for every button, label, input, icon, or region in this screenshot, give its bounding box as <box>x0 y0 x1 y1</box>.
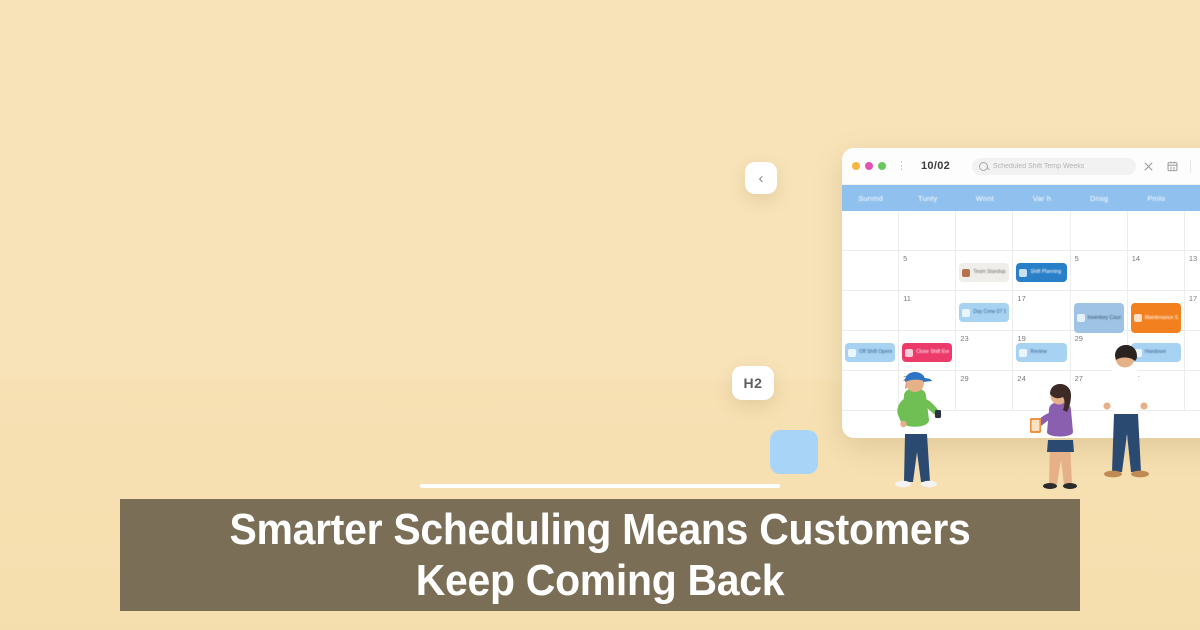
chevron-left-icon: ‹ <box>759 171 764 186</box>
social-card: ⋮ 10/02 Scheduled Shift Temp Weeks <box>0 0 1200 630</box>
window-close-dot[interactable] <box>852 162 860 170</box>
calendar-cell[interactable] <box>1185 331 1200 371</box>
event-icon <box>1134 314 1142 322</box>
calendar-toolbar: ⋮ 10/02 Scheduled Shift Temp Weeks <box>842 148 1200 185</box>
calendar-cell[interactable] <box>956 211 1013 251</box>
toolbar-divider <box>1190 160 1191 173</box>
event-icon <box>1077 314 1085 322</box>
back-button[interactable]: ‹ <box>745 162 777 194</box>
calendar-cell[interactable]: Inventory Count <box>1071 291 1128 331</box>
calendar-day-number: 11 <box>903 294 951 303</box>
event-icon <box>1019 269 1027 277</box>
calendar-cell[interactable]: 11 <box>899 291 956 331</box>
event-label: Day Crew 07 Shift <box>973 309 1006 315</box>
event-label: Off Shift Opener <box>859 349 892 355</box>
calendar-event-chip[interactable]: Day Crew 07 Shift <box>959 303 1009 322</box>
calendar-day-number: 14 <box>1132 254 1180 263</box>
event-label: Inventory Count <box>1088 315 1121 321</box>
calendar-cell[interactable]: Close Shift Evening <box>899 331 956 371</box>
calendar-day-number: 23 <box>960 334 1008 343</box>
person-green-shirt <box>878 368 952 500</box>
weekday-4: Dnsg <box>1071 185 1128 211</box>
event-icon <box>962 309 970 317</box>
calendar-cell[interactable] <box>842 251 899 291</box>
heading-level-chip[interactable]: H2 <box>732 366 774 400</box>
calendar-event-chip[interactable]: Review <box>1016 343 1066 362</box>
calendar-event-chip[interactable]: Team Standup Production <box>959 263 1009 282</box>
search-query-text: Scheduled Shift Temp Weeks <box>993 163 1084 170</box>
event-label: Review <box>1030 349 1046 355</box>
calendar-event-chip[interactable]: Off Shift Opener <box>845 343 895 362</box>
calendar-cell[interactable] <box>1013 211 1070 251</box>
calendar-day-number: 17 <box>1017 294 1065 303</box>
event-icon <box>1019 349 1027 357</box>
calendar-day-number: 13 <box>1189 254 1200 263</box>
weekday-3: Var h <box>1013 185 1070 211</box>
calendar-cell[interactable] <box>1185 371 1200 411</box>
color-swatch-tile[interactable] <box>770 430 818 474</box>
calendar-cell[interactable] <box>1071 211 1128 251</box>
calendar-event-chip[interactable]: Maintenance Service <box>1131 303 1181 333</box>
calendar-cell[interactable]: 29 <box>956 371 1013 411</box>
calendar-day-number: 5 <box>1075 254 1123 263</box>
event-label: Close Shift Evening <box>916 349 949 355</box>
close-icon[interactable] <box>1142 160 1155 173</box>
title-divider <box>420 484 780 488</box>
calendar-cell[interactable]: Off Shift Opener <box>842 331 899 371</box>
calendar-cell[interactable]: Day Crew 07 Shift <box>956 291 1013 331</box>
weekday-0: Sunmd <box>842 185 899 211</box>
calendar-day-number: 19 <box>1017 334 1065 343</box>
event-label: Team Standup Production <box>973 269 1006 275</box>
weekday-2: Wnnt <box>956 185 1013 211</box>
calendar-cell[interactable]: 5 <box>1071 251 1128 291</box>
calendar-tool-icons <box>1142 160 1200 173</box>
calendar-event-chip[interactable]: Inventory Count <box>1074 303 1124 333</box>
kebab-menu-icon[interactable]: ⋮ <box>896 161 907 172</box>
calendar-cell[interactable] <box>842 211 899 251</box>
weekday-1: Tunty <box>899 185 956 211</box>
calendar-cell[interactable]: 5 <box>899 251 956 291</box>
calendar-day-number: 17 <box>1189 294 1200 303</box>
calendar-cell[interactable]: 23 <box>956 331 1013 371</box>
calendar-day-number: 29 <box>960 374 1008 383</box>
event-icon <box>905 349 913 357</box>
calendar-cell[interactable]: 17 <box>1185 291 1200 331</box>
calendar-cell[interactable] <box>842 291 899 331</box>
event-label: Shift Planning <box>1030 269 1061 275</box>
calendar-event-chip[interactable]: Close Shift Evening <box>902 343 952 362</box>
calendar-cell[interactable]: Maintenance Service <box>1128 291 1185 331</box>
event-icon <box>848 349 856 357</box>
person-purple-top <box>1028 382 1092 500</box>
window-minimize-dot[interactable] <box>865 162 873 170</box>
person-white-shirt <box>1090 342 1160 498</box>
calendar-cell[interactable]: Shift Planning <box>1013 251 1070 291</box>
calendar-cell[interactable] <box>1185 211 1200 251</box>
page-title: Smarter Scheduling Means Customers Keep … <box>178 504 1022 606</box>
calendar-search-input[interactable]: Scheduled Shift Temp Weeks <box>972 158 1136 175</box>
calendar-cell[interactable]: 14 <box>1128 251 1185 291</box>
calendar-weekday-header: Sunmd Tunty Wnnt Var h Dnsg Pmlo Tgfu <box>842 185 1200 211</box>
calendar-event-chip[interactable]: Shift Planning <box>1016 263 1066 282</box>
weekday-6: Tgfu <box>1185 185 1200 211</box>
calendar-cell[interactable] <box>1128 211 1185 251</box>
window-traffic-lights[interactable] <box>852 162 886 170</box>
calendar-cell[interactable]: 19Review <box>1013 331 1070 371</box>
calendar-cell[interactable] <box>899 211 956 251</box>
title-band: Smarter Scheduling Means Customers Keep … <box>120 499 1080 611</box>
calendar-date-label: 10/02 <box>921 160 950 172</box>
window-maximize-dot[interactable] <box>878 162 886 170</box>
event-icon <box>962 269 970 277</box>
heading-level-label: H2 <box>744 375 763 391</box>
weekday-5: Pmlo <box>1128 185 1185 211</box>
calendar-cell[interactable]: Team Standup Production <box>956 251 1013 291</box>
calendar-day-number: 5 <box>903 254 951 263</box>
calendar-cell[interactable]: 13 <box>1185 251 1200 291</box>
calendar-icon[interactable] <box>1166 160 1179 173</box>
event-label: Maintenance Service <box>1145 315 1178 321</box>
calendar-cell[interactable]: 17 <box>1013 291 1070 331</box>
search-icon <box>979 162 988 171</box>
